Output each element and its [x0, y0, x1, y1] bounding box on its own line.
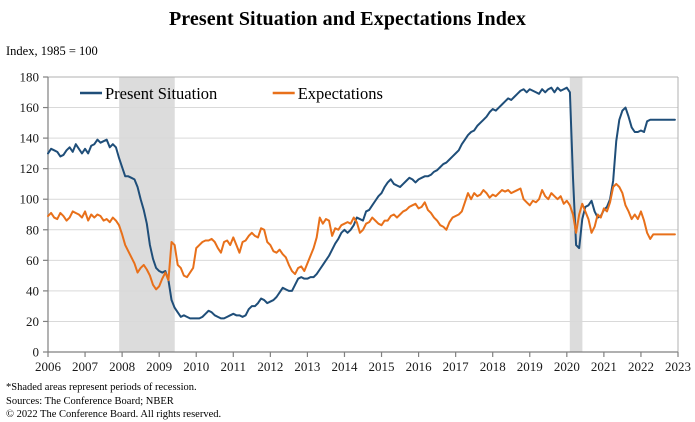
- y-tick-label-120: 120: [20, 161, 40, 176]
- chart-page: Present Situation and Expectations Index…: [0, 0, 695, 422]
- x-tick-label-2011: 2011: [221, 359, 247, 374]
- x-tick-label-2012: 2012: [257, 359, 283, 374]
- y-tick-label-100: 100: [20, 192, 40, 207]
- x-tick-label-2007: 2007: [72, 359, 99, 374]
- x-tick-label-2023: 2023: [665, 359, 691, 374]
- x-tick-label-2008: 2008: [109, 359, 135, 374]
- y-tick-label-80: 80: [26, 222, 39, 237]
- x-tick-label-2015: 2015: [369, 359, 395, 374]
- recession-band-1: [119, 77, 175, 352]
- legend-label-expectations: Expectations: [298, 84, 383, 103]
- y-tick-label-60: 60: [26, 253, 39, 268]
- x-tick-label-2014: 2014: [331, 359, 358, 374]
- footnote-copyright: © 2022 The Conference Board. All rights …: [6, 408, 221, 422]
- x-axis-ticks: 2006200720082009201020112012201320142015…: [35, 352, 691, 374]
- y-tick-label-140: 140: [20, 131, 40, 146]
- footnote-sources: Sources: The Conference Board; NBER: [6, 395, 221, 409]
- x-tick-label-2018: 2018: [480, 359, 506, 374]
- x-tick-label-2022: 2022: [628, 359, 654, 374]
- x-tick-label-2013: 2013: [294, 359, 320, 374]
- x-tick-label-2020: 2020: [554, 359, 580, 374]
- y-tick-label-0: 0: [33, 345, 40, 360]
- y-tick-label-180: 180: [20, 70, 40, 85]
- footnote-recession: *Shaded areas represent periods of reces…: [6, 381, 221, 395]
- x-tick-label-2016: 2016: [406, 359, 433, 374]
- recession-shading-group: [119, 77, 582, 352]
- legend-label-present-situation: Present Situation: [105, 84, 217, 103]
- y-tick-label-160: 160: [20, 100, 40, 115]
- x-tick-label-2021: 2021: [591, 359, 617, 374]
- y-tick-label-40: 40: [26, 283, 39, 298]
- line-chart: 020406080100120140160180 200620072008200…: [0, 0, 695, 422]
- y-axis-ticks: 020406080100120140160180: [20, 70, 49, 360]
- x-tick-label-2019: 2019: [517, 359, 543, 374]
- x-tick-label-2006: 2006: [35, 359, 62, 374]
- x-tick-label-2017: 2017: [443, 359, 470, 374]
- y-tick-label-20: 20: [26, 314, 39, 329]
- x-tick-label-2009: 2009: [146, 359, 172, 374]
- footnotes: *Shaded areas represent periods of reces…: [6, 381, 221, 422]
- chart-legend: Present SituationExpectations: [80, 84, 383, 103]
- x-tick-label-2010: 2010: [183, 359, 209, 374]
